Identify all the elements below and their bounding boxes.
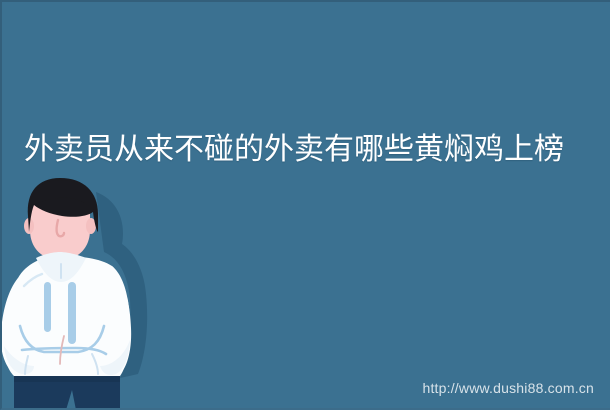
article-banner: 外卖员从来不碰的外卖有哪些黄焖鸡上榜 http://www.dushi88.co… (0, 0, 610, 410)
trousers (14, 374, 120, 410)
source-watermark: http://www.dushi88.com.cn (422, 380, 594, 396)
person-illustration (0, 178, 170, 410)
hoodie (1, 252, 131, 376)
page-title: 外卖员从来不碰的外卖有哪些黄焖鸡上榜 (24, 132, 596, 168)
